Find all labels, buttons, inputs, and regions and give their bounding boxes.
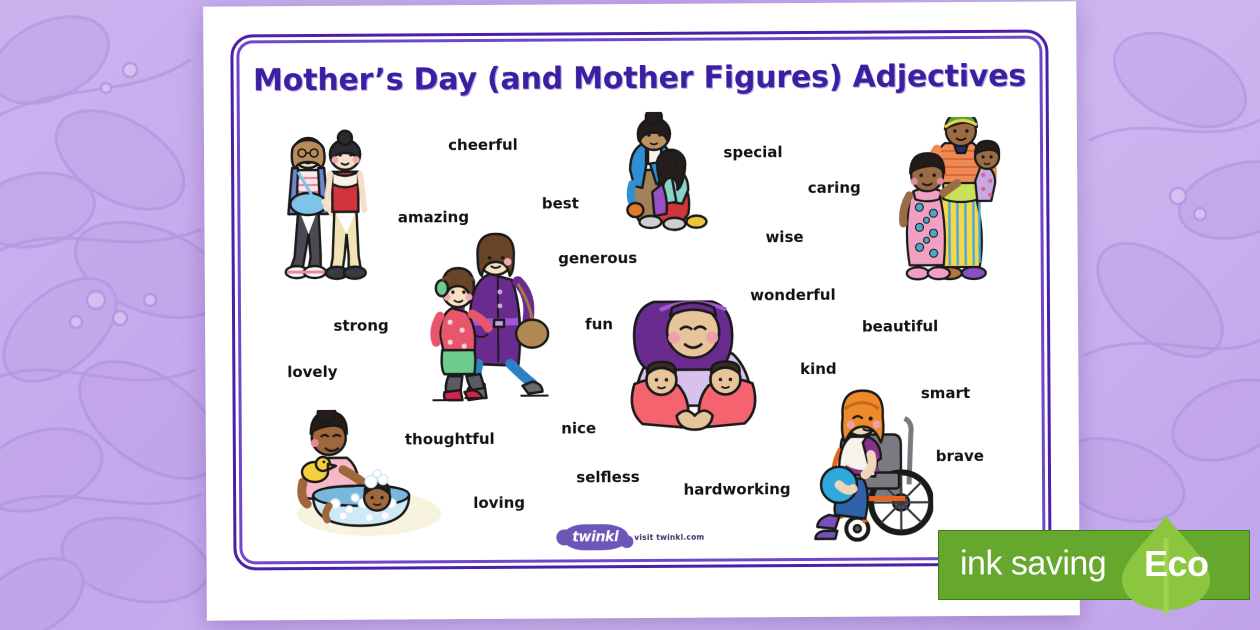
adjective-word-selfless: selfless: [576, 468, 640, 486]
adjective-word-caring: caring: [808, 179, 861, 197]
illustration-mother-bathing-baby: [291, 409, 448, 540]
adjective-word-cheerful: cheerful: [448, 136, 518, 154]
poster-page: Mother’s Day (and Mother Figures) Adject…: [203, 1, 1080, 620]
adjective-word-wise: wise: [765, 228, 803, 246]
adjective-word-amazing: amazing: [398, 208, 469, 226]
adjective-word-generous: generous: [558, 249, 637, 267]
illustration-two-people-holding-hands: [268, 122, 377, 283]
adjective-word-nice: nice: [561, 419, 596, 437]
adjective-word-thoughtful: thoughtful: [405, 430, 495, 449]
poster-frame: Mother’s Day (and Mother Figures) Adject…: [230, 30, 1051, 571]
ink-saving-eco-badge: ink saving Eco: [938, 530, 1260, 598]
adjective-word-beautiful: beautiful: [862, 317, 938, 335]
eco-badge-label: ink saving: [960, 545, 1106, 584]
twinkl-logo-text: twinkl: [572, 529, 618, 545]
adjective-word-brave: brave: [936, 447, 984, 465]
twinkl-logo[interactable]: twinkl visit twinkl.com: [562, 524, 704, 551]
adjective-word-best: best: [542, 194, 579, 212]
adjective-word-fun: fun: [585, 315, 613, 333]
page-title: Mother’s Day (and Mother Figures) Adject…: [233, 59, 1045, 99]
illustration-mother-with-two-children-standing: [897, 117, 1008, 290]
adjective-word-smart: smart: [921, 384, 970, 402]
illustration-mother-holding-twin-babies: [618, 287, 769, 438]
adjective-word-kind: kind: [800, 360, 837, 378]
illustration-mother-kneeling-with-child: [616, 111, 727, 234]
adjective-word-loving: loving: [473, 494, 525, 512]
twinkl-url-text: visit twinkl.com: [634, 532, 704, 541]
adjective-word-layer: cheerfulamazingbestgenerousspecialcaring…: [233, 33, 1045, 38]
eco-badge-word: Eco: [1144, 543, 1209, 585]
adjective-word-special: special: [723, 143, 782, 161]
adjective-word-hardworking: hardworking: [684, 480, 791, 499]
illustration-mother-and-daughter-walking: [428, 229, 573, 402]
twinkl-logo-blob: twinkl: [562, 524, 628, 550]
adjective-word-wonderful: wonderful: [750, 286, 836, 305]
adjective-word-lovely: lovely: [287, 363, 337, 381]
adjective-word-strong: strong: [333, 317, 388, 335]
illustration-girl-in-wheelchair-with-ball: [804, 388, 933, 545]
poster-screenshot: Mother’s Day (and Mother Figures) Adject…: [0, 0, 1260, 630]
